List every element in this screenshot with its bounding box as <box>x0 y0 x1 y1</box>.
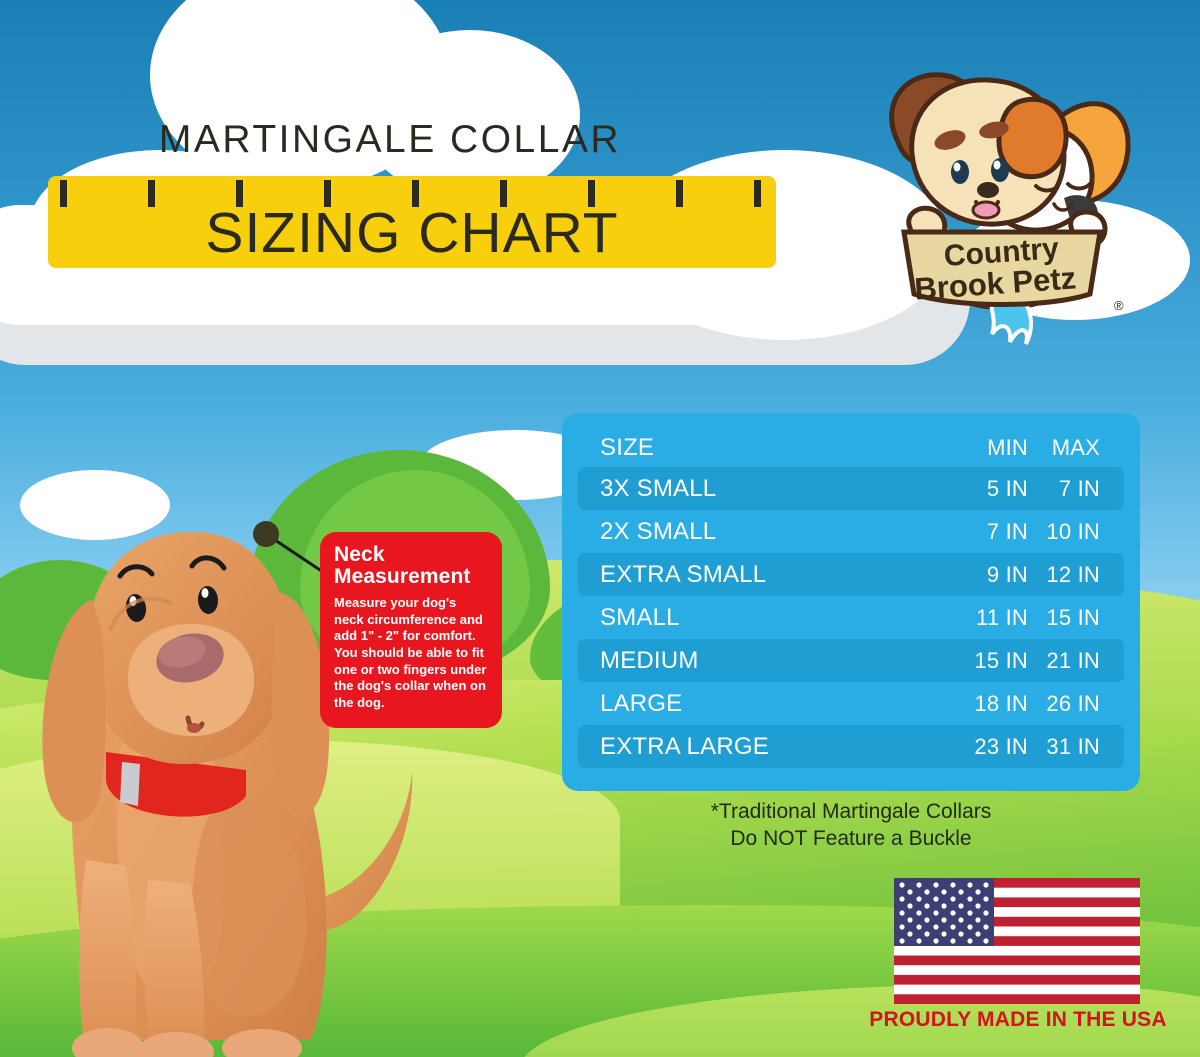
cell-min: 11 IN <box>908 605 1028 631</box>
registered-trademark-icon: ® <box>1114 298 1124 313</box>
footnote: *Traditional Martingale Collars Do NOT F… <box>562 798 1140 853</box>
cell-size: 3X SMALL <box>578 475 908 503</box>
callout-title-line2: Measurement <box>334 565 470 588</box>
table-row: 2X SMALL 7 IN 10 IN <box>578 510 1124 553</box>
cell-min: 7 IN <box>908 519 1028 545</box>
page-title-top: MARTINGALE COLLAR <box>0 118 780 162</box>
cell-max: 7 IN <box>1028 476 1124 502</box>
cell-max: 10 IN <box>1028 519 1124 545</box>
table-row: MEDIUM 15 IN 21 IN <box>578 639 1124 682</box>
cell-min: 18 IN <box>908 691 1028 717</box>
cell-size: 2X SMALL <box>578 518 908 546</box>
footnote-line2: Do NOT Feature a Buckle <box>562 825 1140 852</box>
table-row: SMALL 11 IN 15 IN <box>578 596 1124 639</box>
cell-max: 15 IN <box>1028 605 1124 631</box>
cell-max: 31 IN <box>1028 734 1124 760</box>
cloud-top-right-puff <box>360 30 580 200</box>
cell-max: 21 IN <box>1028 648 1124 674</box>
column-header-min: MIN <box>908 435 1028 461</box>
cell-min: 5 IN <box>908 476 1028 502</box>
column-header-max: MAX <box>1028 435 1124 461</box>
cell-size: SMALL <box>578 604 908 632</box>
cell-size: LARGE <box>578 690 908 718</box>
footnote-line1: *Traditional Martingale Collars <box>562 798 1140 825</box>
sizing-table: SIZE MIN MAX 3X SMALL 5 IN 7 IN 2X SMALL… <box>562 413 1140 791</box>
column-header-size: SIZE <box>578 434 908 462</box>
table-row: 3X SMALL 5 IN 7 IN <box>578 467 1124 510</box>
sizing-chart-image: MARTINGALE COLLAR SIZING CHART <box>0 0 1200 1057</box>
cell-max: 12 IN <box>1028 562 1124 588</box>
table-row: LARGE 18 IN 26 IN <box>578 682 1124 725</box>
cell-min: 23 IN <box>908 734 1028 760</box>
made-in-usa-text: PROUDLY MADE IN THE USA <box>840 1008 1196 1032</box>
ruler-banner: SIZING CHART <box>48 176 776 268</box>
cell-size: EXTRA SMALL <box>578 561 908 589</box>
cell-min: 15 IN <box>908 648 1028 674</box>
country-brook-petz-logo: Country Brook Petz ® <box>868 62 1136 350</box>
cell-size: EXTRA LARGE <box>578 733 908 761</box>
table-row: EXTRA SMALL 9 IN 12 IN <box>578 553 1124 596</box>
cell-max: 26 IN <box>1028 691 1124 717</box>
callout-body: Measure your dog's neck circumference an… <box>334 595 488 711</box>
usa-flag-icon <box>894 878 1140 1004</box>
cell-size: MEDIUM <box>578 647 908 675</box>
callout-title-line1: Neck <box>334 543 385 566</box>
neck-measurement-callout: Neck Measurement Measure your dog's neck… <box>320 532 502 728</box>
page-title-main: SIZING CHART <box>48 200 776 266</box>
cell-min: 9 IN <box>908 562 1028 588</box>
table-row: EXTRA LARGE 23 IN 31 IN <box>578 725 1124 768</box>
table-header-row: SIZE MIN MAX <box>578 429 1124 467</box>
callout-title: Neck Measurement <box>334 544 488 588</box>
